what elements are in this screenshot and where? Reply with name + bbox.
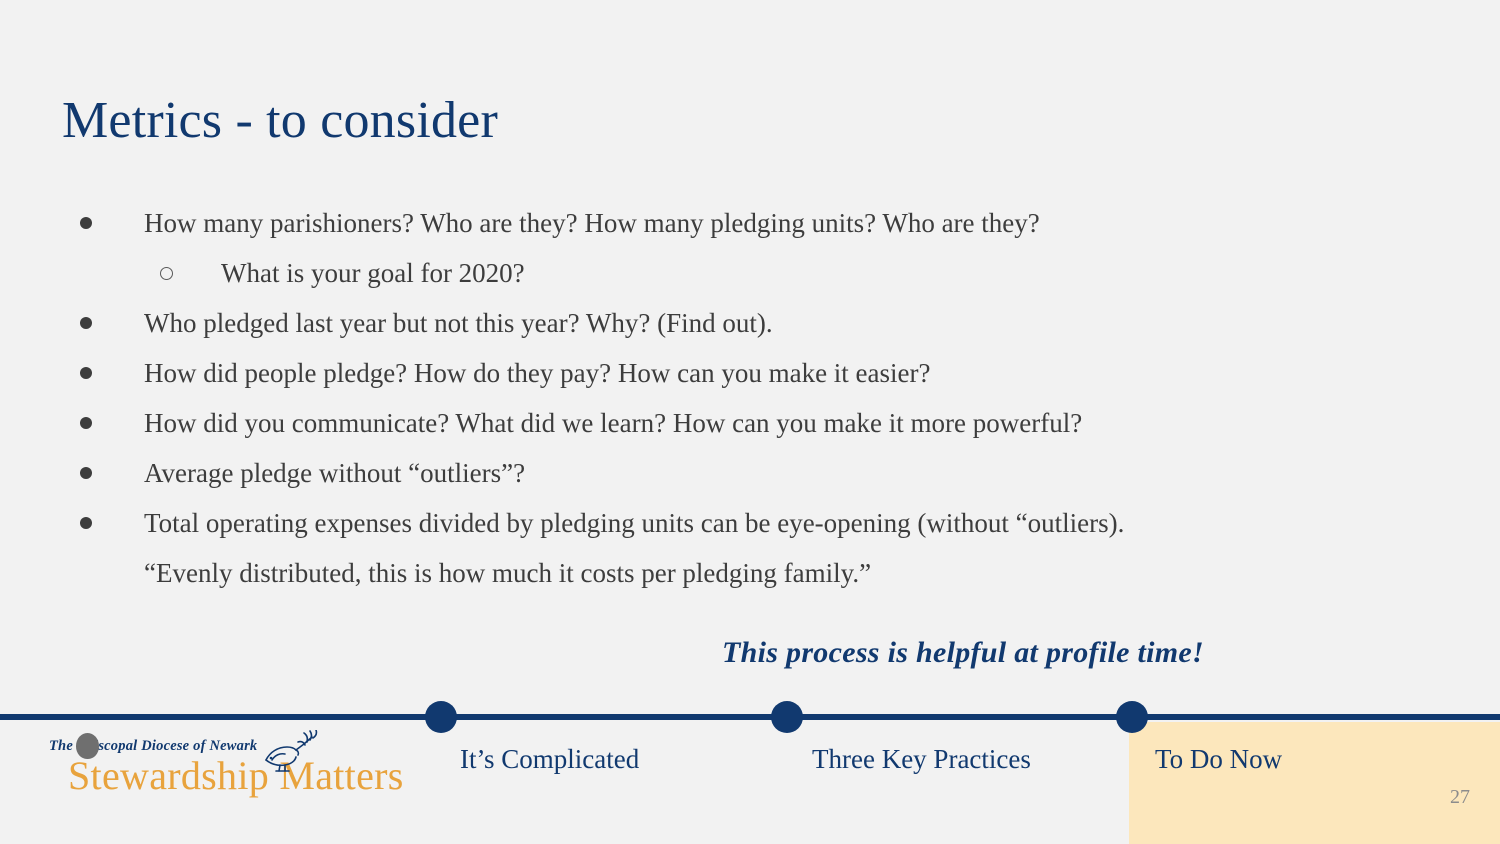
page-number: 27 bbox=[1440, 786, 1480, 809]
list-item-text: Average pledge without “outliers”? bbox=[92, 448, 1402, 498]
list-item-text: How did you communicate? What did we lea… bbox=[92, 398, 1402, 448]
bullet-disc-icon bbox=[80, 217, 92, 229]
list-item-text: Who pledged last year but not this year?… bbox=[92, 298, 1402, 348]
list-item: How did people pledge? How do they pay? … bbox=[62, 348, 1402, 398]
list-item: How did you communicate? What did we lea… bbox=[62, 398, 1402, 448]
slide-canvas: Metrics - to consider How many parishion… bbox=[0, 0, 1500, 844]
list-item-text-line-1: Total operating expenses divided by pled… bbox=[144, 508, 1124, 538]
bullet-disc-icon bbox=[80, 367, 92, 379]
timeline-node-three-key-practices[interactable] bbox=[771, 701, 803, 733]
bullet-disc-icon bbox=[80, 517, 92, 529]
list-item: Who pledged last year but not this year?… bbox=[62, 298, 1402, 348]
timeline-label-to-do-now[interactable]: To Do Now bbox=[1155, 744, 1282, 775]
bullet-disc-icon bbox=[80, 467, 92, 479]
list-item-text: What is your goal for 2020? bbox=[173, 248, 1402, 298]
list-item-text-line-2: “Evenly distributed, this is how much it… bbox=[144, 548, 1402, 598]
list-item: Total operating expenses divided by pled… bbox=[62, 498, 1402, 598]
list-item-text: How many parishioners? Who are they? How… bbox=[92, 198, 1402, 248]
timeline-node-its-complicated[interactable] bbox=[425, 701, 457, 733]
dove-with-olive-branch-icon bbox=[260, 730, 324, 778]
timeline-label-its-complicated[interactable]: It’s Complicated bbox=[460, 744, 639, 775]
active-section-highlight bbox=[1129, 722, 1500, 844]
bullet-disc-icon bbox=[80, 417, 92, 429]
timeline-label-three-key-practices[interactable]: Three Key Practices bbox=[812, 744, 1031, 775]
list-item-text: How did people pledge? How do they pay? … bbox=[92, 348, 1402, 398]
callout-text: This process is helpful at profile time! bbox=[722, 636, 1204, 670]
bullet-circle-icon bbox=[160, 267, 173, 280]
page-title: Metrics - to consider bbox=[62, 92, 498, 149]
bullet-disc-icon bbox=[80, 317, 92, 329]
logo-wordmark: Stewardship Matters bbox=[68, 752, 404, 799]
list-item-text: Total operating expenses divided by pled… bbox=[92, 498, 1402, 598]
bullet-list: How many parishioners? Who are they? How… bbox=[62, 198, 1402, 598]
brand-logo: The Episcopal Diocese of Newark Stewards… bbox=[46, 735, 416, 805]
timeline-node-to-do-now[interactable] bbox=[1116, 701, 1148, 733]
list-item: How many parishioners? Who are they? How… bbox=[62, 198, 1402, 248]
list-item: Average pledge without “outliers”? bbox=[62, 448, 1402, 498]
list-item: What is your goal for 2020? bbox=[62, 248, 1402, 298]
timeline-axis bbox=[0, 714, 1500, 720]
